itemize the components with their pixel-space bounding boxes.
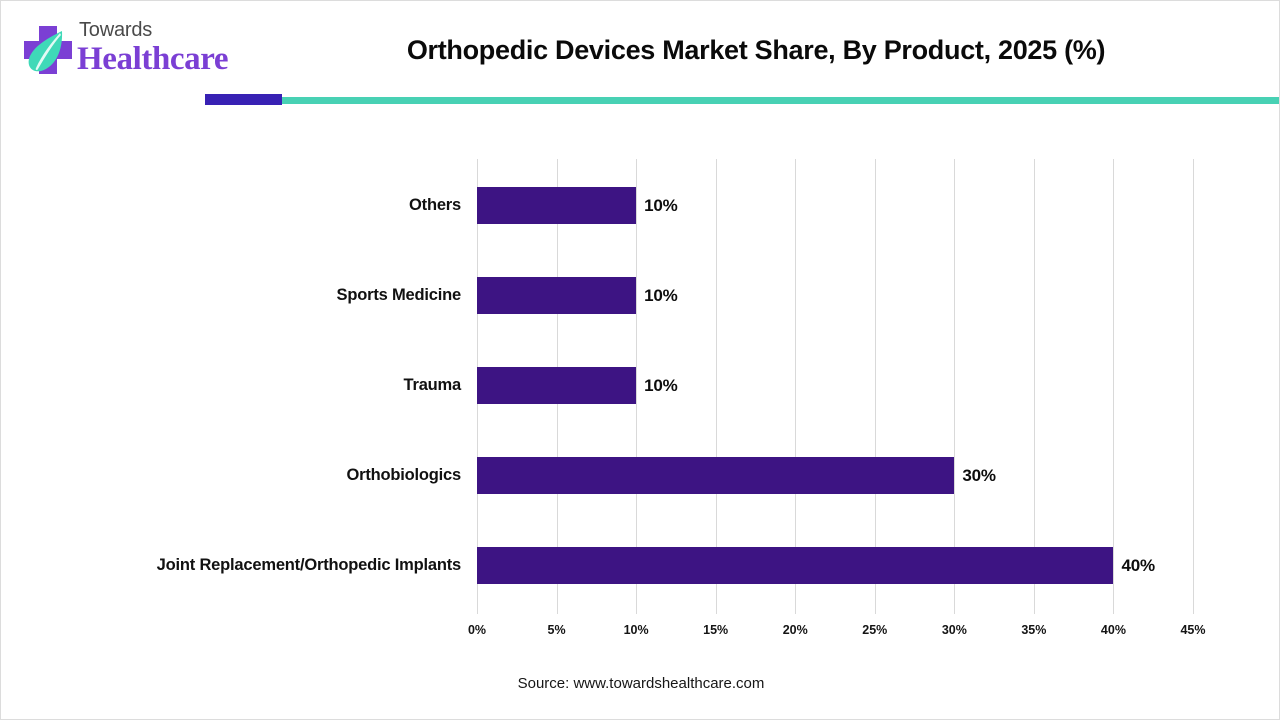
bar-value-label: 40% [1121, 556, 1154, 576]
bar[interactable] [477, 457, 954, 494]
category-label: Others [31, 196, 461, 215]
bar-value-label: 10% [644, 196, 677, 216]
category-label: Orthobiologics [31, 466, 461, 485]
source-note: Source: www.towardshealthcare.com [311, 675, 971, 692]
x-axis-tick-label: 30% [924, 623, 984, 637]
category-label: Joint Replacement/Orthopedic Implants [31, 556, 461, 575]
x-axis-tick-label: 40% [1083, 623, 1143, 637]
x-axis-tick-label: 0% [447, 623, 507, 637]
category-label: Trauma [31, 376, 461, 395]
x-axis-tick-label: 20% [765, 623, 825, 637]
bar[interactable] [477, 277, 636, 314]
chart-page: Towards Healthcare Orthopedic Devices Ma… [0, 0, 1280, 720]
x-axis-tick-label: 25% [845, 623, 905, 637]
bar-value-label: 30% [962, 466, 995, 486]
grid-line [1113, 159, 1114, 614]
x-axis-tick-label: 15% [686, 623, 746, 637]
bar[interactable] [477, 547, 1113, 584]
grid-line [1193, 159, 1194, 614]
x-axis-tick-label: 35% [1004, 623, 1064, 637]
category-label: Sports Medicine [31, 286, 461, 305]
bar[interactable] [477, 367, 636, 404]
x-axis-tick-label: 10% [606, 623, 666, 637]
bar[interactable] [477, 187, 636, 224]
bar-value-label: 10% [644, 376, 677, 396]
bar-value-label: 10% [644, 286, 677, 306]
x-axis-tick-label: 5% [527, 623, 587, 637]
chart-plot-area: 10%10%10%30%40% OthersSports MedicineTra… [1, 1, 1280, 720]
x-axis-tick-label: 45% [1163, 623, 1223, 637]
